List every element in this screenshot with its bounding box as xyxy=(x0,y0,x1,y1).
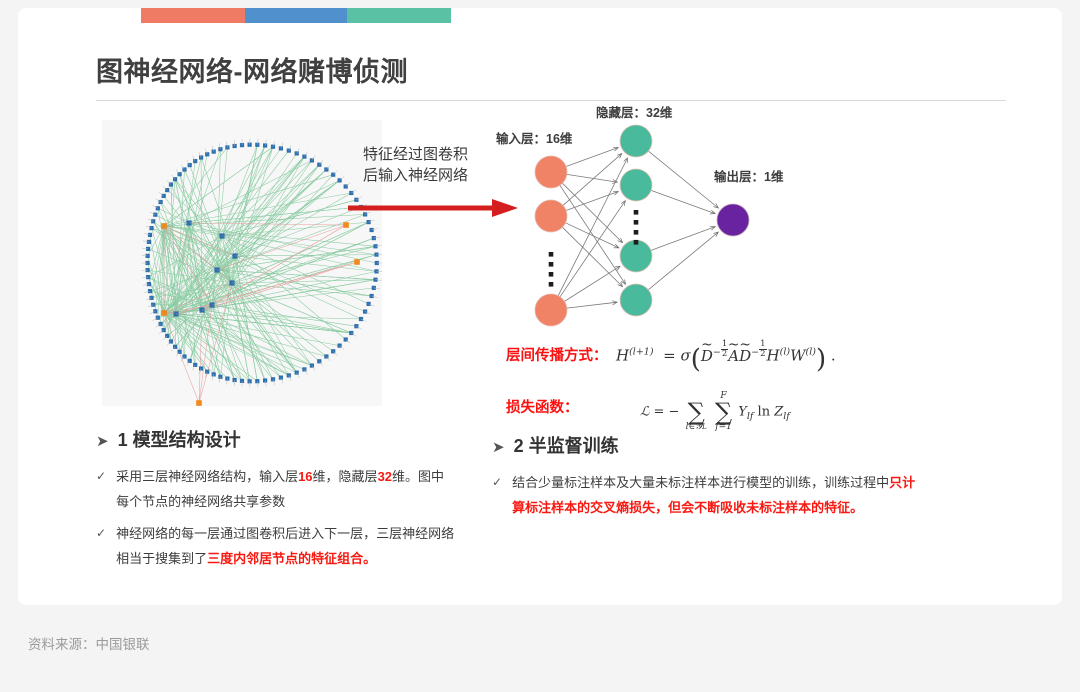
section-semisupervised-training: ➤ 2 半监督训练 ✓结合少量标注样本及大量未标注样本进行模型的训练，训练过程中… xyxy=(492,432,922,527)
formula-loss-body: ℒ = − ∑l∈𝒴L F∑f=1 Ylf ln Zlf xyxy=(616,392,790,432)
section-right-heading: ➤ 2 半监督训练 xyxy=(492,432,922,458)
accent-segment-blue xyxy=(245,8,347,23)
network-graph-visualization xyxy=(102,120,382,406)
bullet-text: 采用三层神经网络结构，输入层16维，隐藏层32维。图中每个节点的神经网络共享参数 xyxy=(116,464,456,514)
accent-color-bar xyxy=(141,8,451,23)
check-icon: ✓ xyxy=(96,464,106,489)
section-model-structure: ➤ 1 模型结构设计 ✓采用三层神经网络结构，输入层16维，隐藏层32维。图中每… xyxy=(96,426,456,578)
plain-text: 采用三层神经网络结构，输入层 xyxy=(116,469,298,484)
bullet-text: 结合少量标注样本及大量未标注样本进行模型的训练，训练过程中只计算标注样本的交叉熵… xyxy=(512,470,922,520)
arrow-annotation-text: 特征经过图卷积 后输入神经网络 xyxy=(363,144,468,186)
bullet-item: ✓结合少量标注样本及大量未标注样本进行模型的训练，训练过程中只计算标注样本的交叉… xyxy=(492,470,922,520)
section-left-bullet-list: ✓采用三层神经网络结构，输入层16维，隐藏层32维。图中每个节点的神经网络共享参… xyxy=(96,464,456,571)
accent-segment-coral xyxy=(141,8,245,23)
page-title: 图神经网络-网络赌博侦测 xyxy=(96,50,408,89)
plain-text: 结合少量标注样本及大量未标注样本进行模型的训练，训练过程中 xyxy=(512,475,889,490)
formula-block: 层间传播方式： H(l+1) = σ(~D−12~A~D−12H(l)W(l))… xyxy=(506,340,926,432)
section-right-bullet-list: ✓结合少量标注样本及大量未标注样本进行模型的训练，训练过程中只计算标注样本的交叉… xyxy=(492,470,922,520)
section-right-heading-text: 2 半监督训练 xyxy=(514,432,619,458)
nn-svg xyxy=(488,102,828,332)
neural-network-diagram: 输入层：16维 隐藏层：32维 输出层：1维 xyxy=(488,102,828,332)
check-icon: ✓ xyxy=(492,470,502,495)
formula-propagation-body: H(l+1) = σ(~D−12~A~D−12H(l)W(l)) . xyxy=(616,340,836,374)
bullet-item: ✓神经网络的每一层通过图卷积后进入下一层，三层神经网络相当于搜集到了三度内邻居节… xyxy=(96,521,456,571)
plain-text: 维，隐藏层 xyxy=(313,469,378,484)
bullet-text: 神经网络的每一层通过图卷积后进入下一层，三层神经网络相当于搜集到了三度内邻居节点… xyxy=(116,521,456,571)
arrow-annotation-line1: 特征经过图卷积 xyxy=(363,144,468,165)
title-divider xyxy=(96,100,1006,101)
highlighted-text: 三度内邻居节点的特征组合。 xyxy=(207,551,376,566)
highlighted-text: 16 xyxy=(298,469,312,484)
arrow-annotation-line2: 后输入神经网络 xyxy=(363,165,468,186)
formula-propagation-label: 层间传播方式： xyxy=(506,340,616,365)
bullet-item: ✓采用三层神经网络结构，输入层16维，隐藏层32维。图中每个节点的神经网络共享参… xyxy=(96,464,456,514)
formula-loss-label: 损失函数： xyxy=(506,392,616,417)
section-left-heading-text: 1 模型结构设计 xyxy=(118,426,241,452)
slide-card: 图神经网络-网络赌博侦测 特征经过图卷积 后输入神经网络 输入层：16维 隐藏层… xyxy=(18,8,1062,605)
graph-svg xyxy=(102,120,382,406)
section-left-heading: ➤ 1 模型结构设计 xyxy=(96,426,456,452)
highlighted-text: 32 xyxy=(378,469,392,484)
source-footer: 资料来源：中国银联 xyxy=(28,633,150,653)
chevron-right-icon: ➤ xyxy=(96,432,109,450)
check-icon: ✓ xyxy=(96,521,106,546)
chevron-right-icon: ➤ xyxy=(492,438,505,456)
accent-segment-green xyxy=(347,8,451,23)
formula-loss-row: 损失函数： ℒ = − ∑l∈𝒴L F∑f=1 Ylf ln Zlf xyxy=(506,392,926,432)
formula-propagation-row: 层间传播方式： H(l+1) = σ(~D−12~A~D−12H(l)W(l))… xyxy=(506,340,926,374)
